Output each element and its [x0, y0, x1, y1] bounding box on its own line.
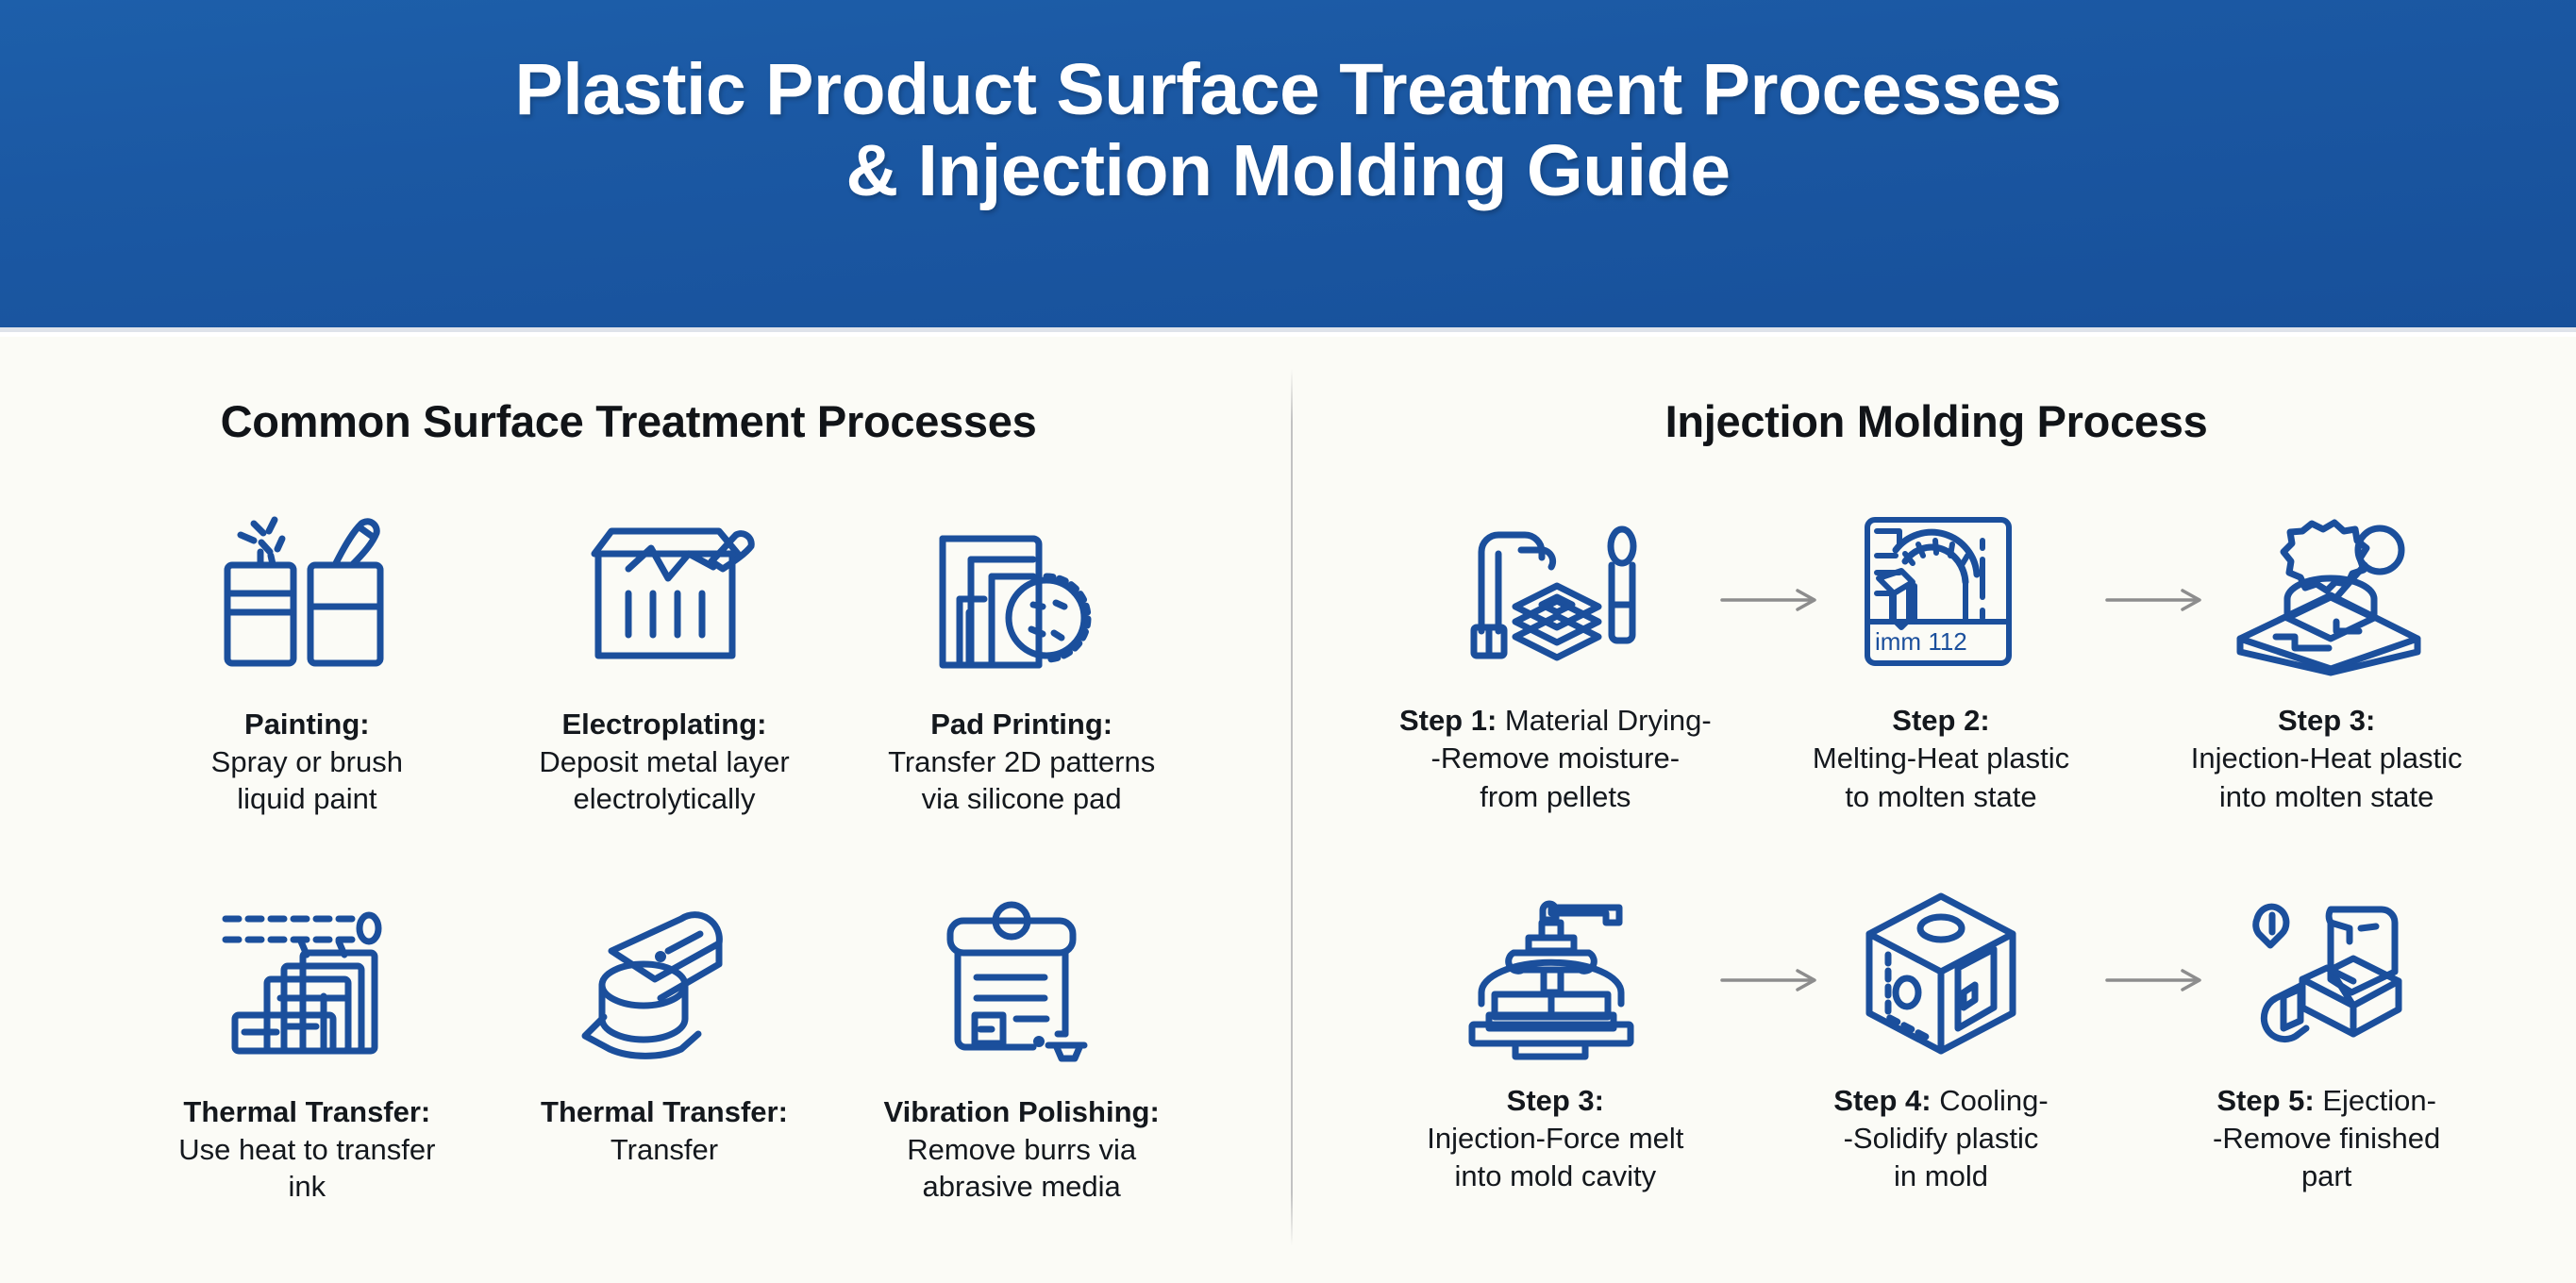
step-label: Step 2: Melting-Heat plastic to molten s…: [1762, 702, 2120, 816]
step-term: Step 2:: [1892, 704, 1989, 737]
injection-molding-grid-row-1: Step 1: Material Drying- -Remove moistur…: [1291, 502, 2576, 816]
card-desc-line-2: via silicone pad: [861, 780, 1182, 818]
left-column: Common Surface Treatment Processes: [0, 337, 1291, 1206]
card-desc-line-2: abrasive media: [861, 1168, 1182, 1206]
step-desc-line-3: to molten state: [1762, 778, 2120, 816]
card-label: Thermal Transfer: Transfer: [504, 1093, 825, 1168]
card-term: Thermal Transfer:: [504, 1093, 825, 1131]
card-desc-line-1: Deposit metal layer: [504, 743, 825, 781]
step-desc-line-2: -Solidify plastic: [1762, 1120, 2120, 1158]
header-banner: Plastic Product Surface Treatment Proces…: [0, 0, 2576, 332]
step-term: Step 3:: [2278, 704, 2375, 737]
step-card-5[interactable]: Step 5: Ejection- -Remove finished part: [2133, 882, 2519, 1196]
card-label: Electroplating: Deposit metal layer elec…: [504, 706, 825, 818]
card-label: Pad Printing: Transfer 2D patterns via s…: [861, 706, 1182, 818]
page-title: Plastic Product Surface Treatment Proces…: [0, 49, 2576, 211]
step-desc-line-3: into mold cavity: [1376, 1158, 1734, 1195]
card-desc-line-2: electrolytically: [504, 780, 825, 818]
step-card-3-bottom[interactable]: Step 3: Injection-Force melt into mold c…: [1363, 882, 1748, 1196]
step-label: Step 3: Injection-Force melt into mold c…: [1376, 1082, 1734, 1196]
pad-printing-icon: [923, 502, 1121, 681]
card-vibration-polishing[interactable]: Vibration Polishing: Remove burrs via ab…: [843, 890, 1200, 1206]
step-term: Step 1:: [1399, 704, 1497, 737]
cooling-mold-box-icon: [1842, 882, 2040, 1061]
card-label: Painting: Spray or brush liquid paint: [146, 706, 467, 818]
step-header-line: Step 1: Material Drying-: [1376, 702, 1734, 740]
surface-treatment-grid-row-2: Thermal Transfer: Use heat to transfer i…: [0, 890, 1291, 1206]
melting-barrel-icon: imm 112: [1842, 502, 2040, 681]
card-electroplating[interactable]: Electroplating: Deposit metal layer elec…: [486, 502, 844, 818]
injection-press-icon: [1456, 882, 1654, 1061]
step-card-1[interactable]: Step 1: Material Drying- -Remove moistur…: [1363, 502, 1748, 816]
material-drying-hopper-icon: [1456, 502, 1654, 681]
step-label: Step 4: Cooling- -Solidify plastic in mo…: [1762, 1082, 2120, 1196]
card-term: Pad Printing:: [861, 706, 1182, 743]
step-desc-line-2: Injection-Heat plastic: [2148, 740, 2506, 777]
card-label: Vibration Polishing: Remove burrs via ab…: [861, 1093, 1182, 1206]
card-painting[interactable]: Painting: Spray or brush liquid paint: [128, 502, 486, 818]
card-desc-line-1: Transfer: [504, 1131, 825, 1169]
step-card-2[interactable]: imm 112 Step 2: Melting-Heat plastic to …: [1748, 502, 2134, 816]
step-desc-line-3: from pellets: [1376, 778, 1734, 816]
step-header-line: Step 2:: [1762, 702, 2120, 740]
injection-mold-icon: [2228, 502, 2426, 681]
injection-molding-grid-row-2: Step 3: Injection-Force melt into mold c…: [1291, 882, 2576, 1196]
content-area: Common Surface Treatment Processes: [0, 337, 2576, 1283]
step-header-line: Step 5: Ejection-: [2148, 1082, 2506, 1120]
step-desc-line-1: Cooling-: [1939, 1084, 2048, 1117]
step-desc-line-1: Material Drying-: [1505, 704, 1712, 737]
thermal-transfer-roller-icon: [565, 890, 763, 1069]
card-term: Thermal Transfer:: [146, 1093, 467, 1131]
ejection-part-icon: [2228, 882, 2426, 1061]
electroplating-tank-icon: [565, 502, 763, 681]
step-label: Step 5: Ejection- -Remove finished part: [2148, 1082, 2506, 1196]
card-desc-line-1: Transfer 2D patterns: [861, 743, 1182, 781]
card-thermal-transfer-roller[interactable]: Thermal Transfer: Transfer: [486, 890, 844, 1206]
step-header-line: Step 4: Cooling-: [1762, 1082, 2120, 1120]
card-thermal-transfer-machine[interactable]: Thermal Transfer: Use heat to transfer i…: [128, 890, 486, 1206]
step-desc-line-2: Melting-Heat plastic: [1762, 740, 2120, 777]
step-card-4[interactable]: Step 4: Cooling- -Solidify plastic in mo…: [1748, 882, 2134, 1196]
step-desc-line-3: into molten state: [2148, 778, 2506, 816]
step-term: Step 4:: [1833, 1084, 1931, 1117]
page-title-line-2: & Injection Molding Guide: [0, 130, 2576, 211]
vibration-polishing-icon: [923, 890, 1121, 1069]
card-desc-line-1: Remove burrs via: [861, 1131, 1182, 1169]
left-column-title: Common Surface Treatment Processes: [0, 395, 1291, 447]
step-desc-line-2: -Remove finished: [2148, 1120, 2506, 1158]
page-title-line-1: Plastic Product Surface Treatment Proces…: [514, 49, 2061, 130]
surface-treatment-grid-row-1: Painting: Spray or brush liquid paint: [0, 502, 1291, 818]
card-desc-line-2: ink: [146, 1168, 467, 1206]
card-desc-line-1: Spray or brush: [146, 743, 467, 781]
card-desc-line-1: Use heat to transfer: [146, 1131, 467, 1169]
step-label: Step 3: Injection-Heat plastic into molt…: [2148, 702, 2506, 816]
step-header-line: Step 3:: [2148, 702, 2506, 740]
step-desc-line-2: -Remove moisture-: [1376, 740, 1734, 777]
step-desc-line-3: in mold: [1762, 1158, 2120, 1195]
step-card-3-top[interactable]: Step 3: Injection-Heat plastic into molt…: [2133, 502, 2519, 816]
spray-can-and-paint-brush-icon: [208, 502, 406, 681]
step-term: Step 3:: [1507, 1084, 1604, 1117]
right-column: Injection Molding Process: [1291, 337, 2576, 1196]
step-desc-line-3: part: [2148, 1158, 2506, 1195]
card-label: Thermal Transfer: Use heat to transfer i…: [146, 1093, 467, 1206]
step-header-line: Step 3:: [1376, 1082, 1734, 1120]
card-desc-line-2: liquid paint: [146, 780, 467, 818]
card-pad-printing[interactable]: Pad Printing: Transfer 2D patterns via s…: [843, 502, 1200, 818]
right-column-title: Injection Molding Process: [1296, 395, 2576, 447]
step-desc-line-1: Ejection-: [2322, 1084, 2436, 1117]
step-label: Step 1: Material Drying- -Remove moistur…: [1376, 702, 1734, 816]
card-term: Painting:: [146, 706, 467, 743]
card-term: Vibration Polishing:: [861, 1093, 1182, 1131]
step-desc-line-2: Injection-Force melt: [1376, 1120, 1734, 1158]
thermal-transfer-machine-icon: [208, 890, 406, 1069]
card-term: Electroplating:: [504, 706, 825, 743]
icon-caption: imm 112: [1875, 627, 1967, 656]
step-term: Step 5:: [2216, 1084, 2314, 1117]
